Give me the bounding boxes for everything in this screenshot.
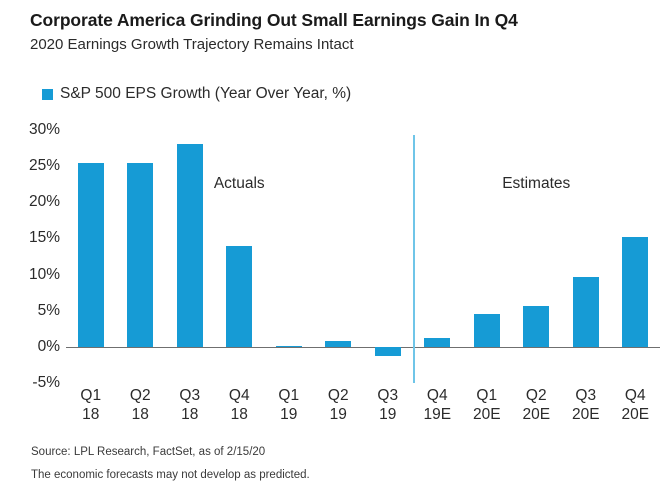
x-axis-tick: Q318	[179, 386, 200, 424]
x-axis-tick-year: 18	[229, 405, 250, 424]
plot-area: Actuals Estimates	[66, 120, 660, 380]
x-axis-tick-quarter: Q2	[130, 386, 151, 405]
x-axis-tick: Q319	[377, 386, 398, 424]
bar-slot	[512, 120, 562, 380]
x-axis-tick: Q420E	[621, 386, 649, 424]
bar[interactable]	[276, 346, 302, 348]
y-axis-tick: -5%	[2, 374, 60, 392]
x-axis-tick: Q218	[130, 386, 151, 424]
x-axis-tick-quarter: Q1	[473, 386, 501, 405]
x-axis-tick-year: 18	[130, 405, 151, 424]
bar-slot	[611, 120, 661, 380]
bar[interactable]	[325, 341, 351, 347]
disclaimer-note: The economic forecasts may not develop a…	[31, 469, 310, 481]
x-axis-tick-year: 19	[328, 405, 349, 424]
estimates-band-label: Estimates	[502, 175, 570, 193]
x-axis-tick-quarter: Q4	[621, 386, 649, 405]
bar[interactable]	[78, 163, 104, 347]
bar[interactable]	[424, 338, 450, 347]
bar-slot	[462, 120, 512, 380]
x-axis-tick-quarter: Q2	[328, 386, 349, 405]
x-axis-tick: Q118	[80, 386, 101, 424]
legend-label: S&P 500 EPS Growth (Year Over Year, %)	[60, 85, 351, 103]
bar[interactable]	[375, 347, 401, 356]
bar[interactable]	[474, 314, 500, 347]
y-axis-tick: 25%	[2, 157, 60, 175]
x-axis-tick-quarter: Q3	[572, 386, 600, 405]
x-axis-tick: Q418	[229, 386, 250, 424]
page-title: Corporate America Grinding Out Small Ear…	[30, 10, 518, 31]
bar-slot	[264, 120, 314, 380]
x-axis-tick-year: 19	[377, 405, 398, 424]
x-axis-tick: Q219	[328, 386, 349, 424]
chart-legend: S&P 500 EPS Growth (Year Over Year, %)	[42, 85, 351, 103]
bar[interactable]	[177, 144, 203, 347]
x-axis-tick-quarter: Q3	[179, 386, 200, 405]
actuals-band-label: Actuals	[214, 175, 265, 193]
bar-slot	[66, 120, 116, 380]
bar-slot	[413, 120, 463, 380]
x-axis-tick: Q220E	[522, 386, 550, 424]
bar-slot	[561, 120, 611, 380]
bar-slot	[363, 120, 413, 380]
bar-slot	[116, 120, 166, 380]
x-axis-tick-year: 19E	[423, 405, 451, 424]
bar[interactable]	[127, 163, 153, 347]
y-axis-tick: 10%	[2, 266, 60, 284]
x-axis-tick: Q119	[278, 386, 299, 424]
bar-slot	[215, 120, 265, 380]
x-axis-tick-quarter: Q1	[80, 386, 101, 405]
x-axis-tick-year: 20E	[572, 405, 600, 424]
y-axis-tick: 30%	[2, 121, 60, 139]
y-axis-tick: 15%	[2, 229, 60, 247]
bar[interactable]	[622, 237, 648, 347]
x-axis-tick: Q320E	[572, 386, 600, 424]
bar-slot	[165, 120, 215, 380]
x-axis-tick-year: 20E	[473, 405, 501, 424]
bar-series	[66, 120, 660, 380]
bar-slot	[314, 120, 364, 380]
x-axis-tick-year: 20E	[522, 405, 550, 424]
y-axis-tick: 5%	[2, 302, 60, 320]
x-axis-tick-quarter: Q4	[423, 386, 451, 405]
bar[interactable]	[523, 306, 549, 347]
x-axis: Q118Q218Q318Q418Q119Q219Q319Q419EQ120EQ2…	[66, 386, 660, 436]
page-subtitle: 2020 Earnings Growth Trajectory Remains …	[30, 36, 353, 53]
x-axis-tick-quarter: Q2	[522, 386, 550, 405]
x-axis-tick: Q120E	[473, 386, 501, 424]
x-axis-tick-year: 18	[80, 405, 101, 424]
x-axis-tick-quarter: Q3	[377, 386, 398, 405]
x-axis-tick-quarter: Q1	[278, 386, 299, 405]
x-axis-tick-quarter: Q4	[229, 386, 250, 405]
x-axis-tick-year: 19	[278, 405, 299, 424]
source-note: Source: LPL Research, FactSet, as of 2/1…	[31, 446, 265, 458]
y-axis: 30%25%20%15%10%5%0%-5%	[0, 120, 60, 395]
x-axis-tick-year: 18	[179, 405, 200, 424]
chart-figure: Corporate America Grinding Out Small Ear…	[0, 0, 668, 492]
x-axis-tick: Q419E	[423, 386, 451, 424]
bar[interactable]	[226, 246, 252, 347]
y-axis-tick: 20%	[2, 193, 60, 211]
bar[interactable]	[573, 277, 599, 347]
y-axis-tick: 0%	[2, 338, 60, 356]
legend-square-icon	[42, 89, 53, 100]
x-axis-tick-year: 20E	[621, 405, 649, 424]
